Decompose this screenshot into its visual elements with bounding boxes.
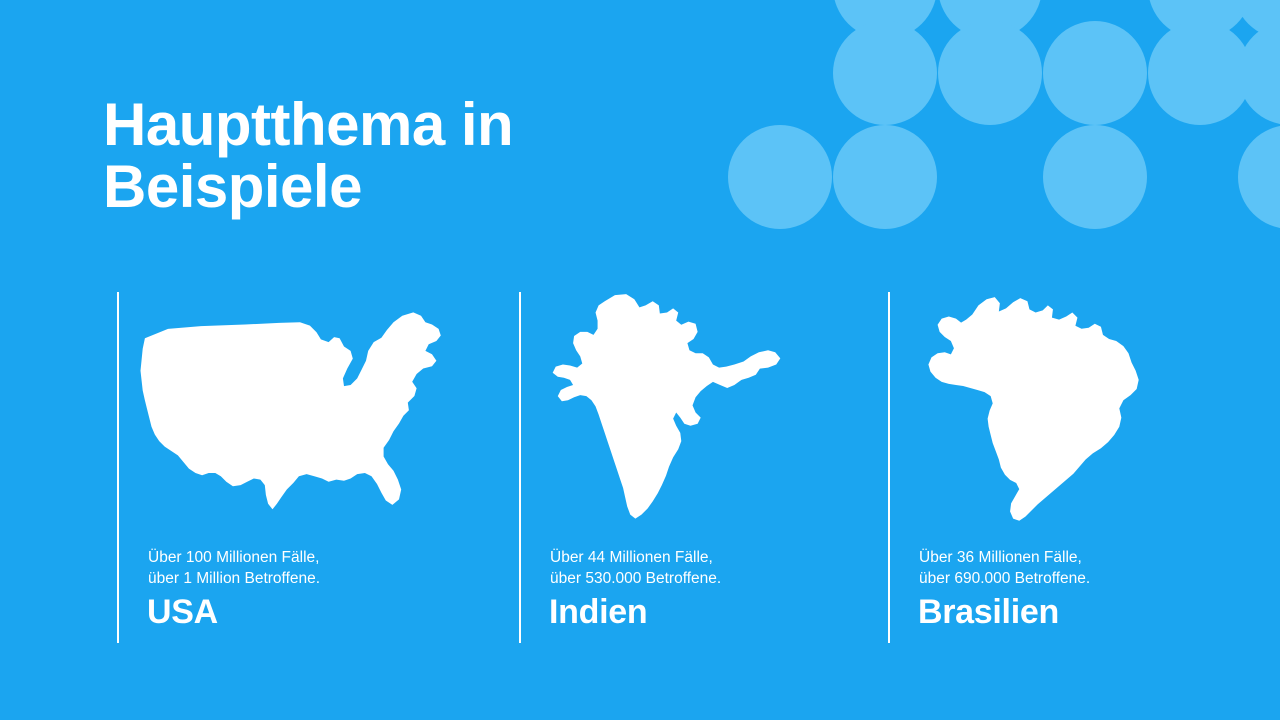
decorative-circle [1043,21,1147,125]
stats-line-1: Über 44 Millionen Fälle, [550,547,721,568]
country-column-india: Über 44 Millionen Fälle, über 530.000 Be… [505,290,874,645]
country-name: USA [147,592,218,632]
decorative-circle [938,21,1042,125]
decorative-circle [1233,0,1280,39]
stats-line-1: Über 36 Millionen Fälle, [919,547,1090,568]
column-divider [519,292,521,643]
stats-line-2: über 530.000 Betroffene. [550,568,721,589]
country-name: Brasilien [918,592,1059,632]
stats-line-2: über 690.000 Betroffene. [919,568,1090,589]
stats-line-1: Über 100 Millionen Fälle, [148,547,320,568]
india-map-icon [537,290,797,535]
country-column-brazil: Über 36 Millionen Fälle, über 690.000 Be… [874,290,1203,645]
decorative-circle [728,125,832,229]
country-stats: Über 100 Millionen Fälle, über 1 Million… [148,547,320,589]
circle-grid-decoration [700,0,1280,250]
decorative-circle [1043,125,1147,229]
decorative-circle [938,0,1042,39]
page-title-line-2: Beispiele [103,156,723,218]
decorative-circle [1238,125,1280,229]
decorative-circle [833,0,937,39]
decorative-circle [833,125,937,229]
country-stats: Über 36 Millionen Fälle, über 690.000 Be… [919,547,1090,589]
column-divider [888,292,890,643]
country-name: Indien [549,592,647,632]
country-stats: Über 44 Millionen Fälle, über 530.000 Be… [550,547,721,589]
page-title: Hauptthema in Beispiele [103,94,723,218]
brazil-map-icon [906,290,1156,535]
page-title-line-1: Hauptthema in [103,94,723,156]
decorative-circle [833,21,937,125]
country-columns: Über 100 Millionen Fälle, über 1 Million… [103,290,1203,645]
column-divider [117,292,119,643]
usa-map-icon [135,290,465,535]
country-column-usa: Über 100 Millionen Fälle, über 1 Million… [103,290,505,645]
decorative-circle [1238,21,1280,125]
stats-line-2: über 1 Million Betroffene. [148,568,320,589]
decorative-circle [1148,0,1252,39]
decorative-circle [1148,21,1252,125]
slide-canvas: Hauptthema in Beispiele Über 100 Million… [0,0,1280,720]
